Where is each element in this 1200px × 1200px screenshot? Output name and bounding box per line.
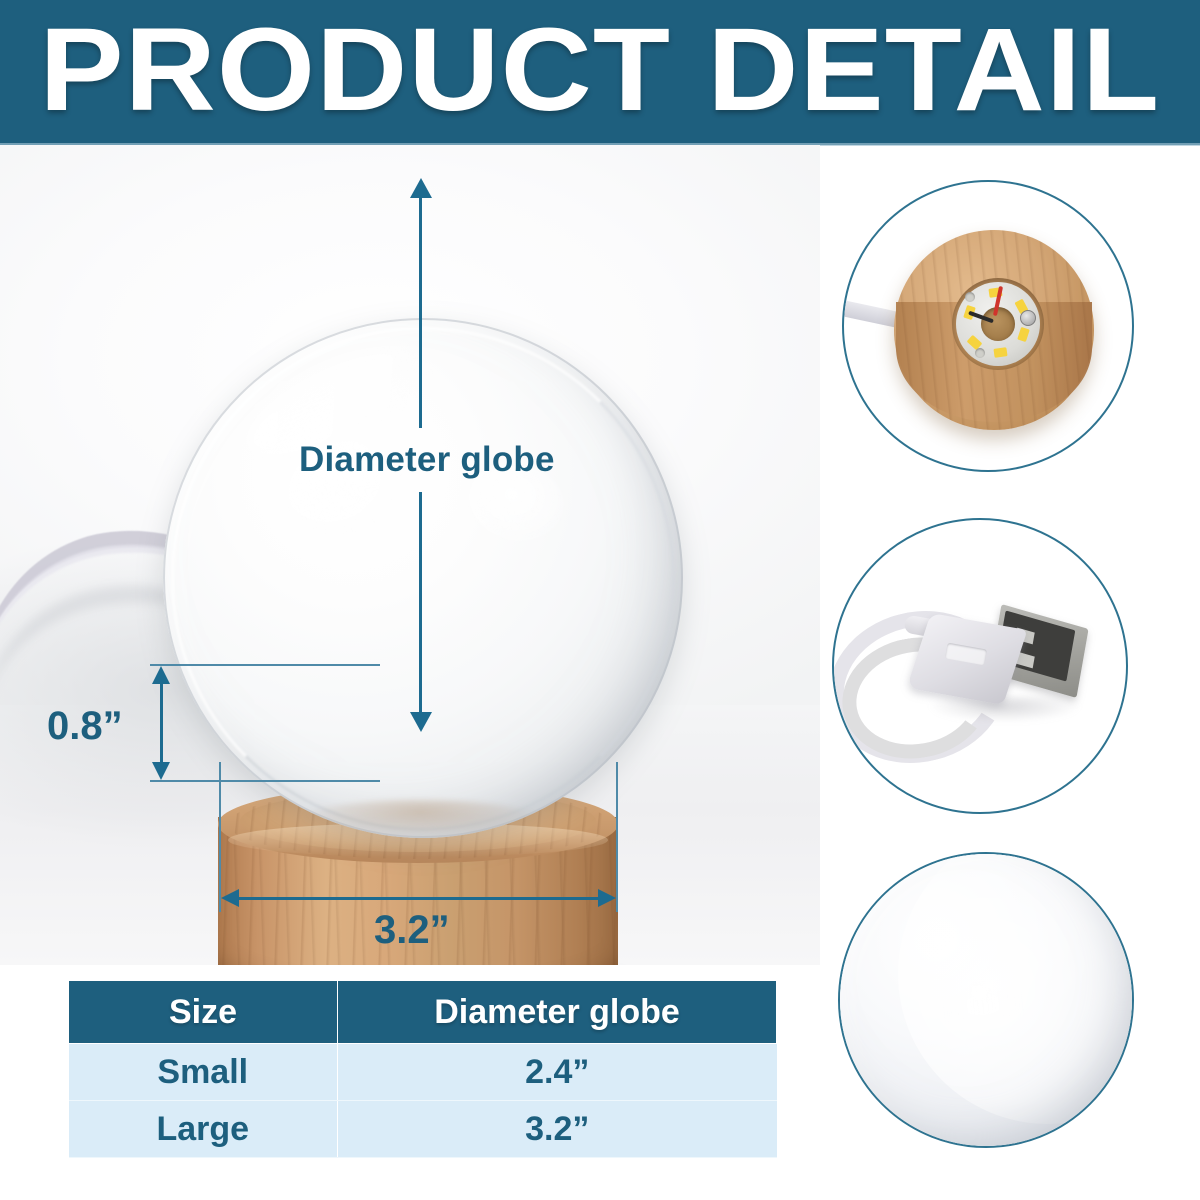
header-title-wrap: PRODUCT DETAIL <box>0 0 1200 145</box>
cell-diameter-small: 2.4” <box>338 1044 777 1101</box>
inset-usb-cable <box>832 518 1128 814</box>
led-chip-4 <box>993 347 1007 358</box>
cell-diameter-large: 3.2” <box>338 1101 777 1158</box>
diameter-globe-label: Diameter globe <box>291 438 563 482</box>
size-table-head: Size Diameter globe <box>69 981 777 1044</box>
table-header-row: Size Diameter globe <box>69 981 777 1044</box>
cell-size-large: Large <box>69 1101 338 1158</box>
cell-size-small: Small <box>69 1044 338 1101</box>
diameter-line-lower <box>419 492 422 714</box>
diameter-line-upper <box>419 196 422 428</box>
base-width-label: 3.2” <box>374 908 450 953</box>
page-header-banner: PRODUCT DETAIL <box>0 0 1200 145</box>
usb-connector-shadow <box>930 696 1080 722</box>
glass-closeup-shading <box>838 852 1134 1148</box>
led-center-hole <box>981 307 1015 341</box>
width-extension-line-right <box>616 762 618 912</box>
crystal-globe-outline <box>163 318 683 838</box>
table-row: Large 3.2” <box>69 1101 777 1158</box>
base-height-label: 0.8” <box>47 704 123 749</box>
inset-led-wooden-base <box>842 180 1134 472</box>
led-solder-pad-1 <box>965 292 975 302</box>
led-screw <box>1020 310 1036 326</box>
size-specification-table: Size Diameter globe Small 2.4” Large 3.2… <box>68 980 777 1158</box>
width-line <box>238 897 600 900</box>
inset-crystal-glass-closeup <box>838 852 1134 1148</box>
led-solder-pad-2 <box>975 348 985 358</box>
diameter-arrow-head-top <box>410 178 432 198</box>
main-product-photo <box>0 145 820 965</box>
height-arrow-head-bottom <box>152 762 170 780</box>
column-header-size: Size <box>69 981 338 1044</box>
width-arrow-head-left <box>221 889 239 907</box>
height-extension-line-bottom <box>150 780 380 782</box>
height-line <box>160 682 163 766</box>
diameter-arrow-head-bottom <box>410 712 432 732</box>
size-table-body: Small 2.4” Large 3.2” <box>69 1044 777 1158</box>
page-title: PRODUCT DETAIL <box>40 11 1161 135</box>
column-header-diameter: Diameter globe <box>338 981 777 1044</box>
height-extension-line-top <box>150 664 380 666</box>
table-row: Small 2.4” <box>69 1044 777 1101</box>
product-detail-page: PRODUCT DETAIL Diameter globe <box>0 0 1200 1200</box>
width-arrow-head-right <box>598 889 616 907</box>
globe-base-contact-shadow <box>300 800 540 840</box>
